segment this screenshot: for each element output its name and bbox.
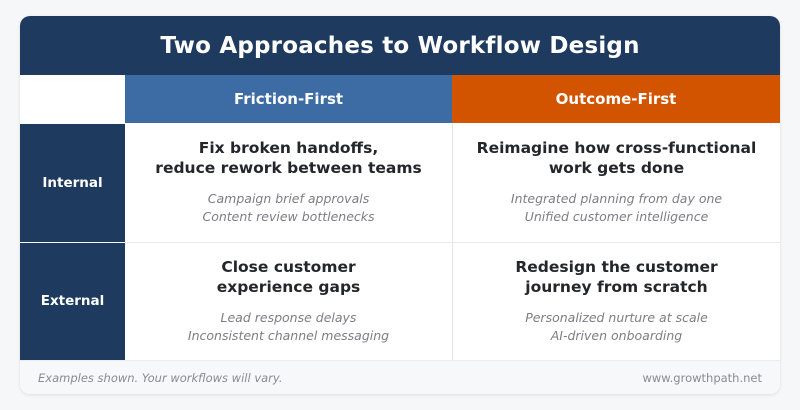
cell-headline-line-2: reduce rework between teams bbox=[155, 158, 421, 178]
cell-external-friction-first: Close customer experience gaps Lead resp… bbox=[125, 242, 452, 361]
cell-headline: Redesign the customer journey from scrat… bbox=[515, 257, 717, 297]
cell-examples: Integrated planning from day one Unified… bbox=[511, 190, 722, 227]
cell-examples: Lead response delays Inconsistent channe… bbox=[188, 309, 389, 346]
comparison-card: Two Approaches to Workflow Design Fricti… bbox=[20, 16, 780, 394]
card-footer: Examples shown. Your workflows will vary… bbox=[20, 360, 780, 394]
cell-internal-outcome-first: Reimagine how cross-functional work gets… bbox=[452, 123, 780, 242]
row-label-text: Internal bbox=[42, 175, 102, 191]
cell-example-1: Personalized nurture at scale bbox=[525, 309, 708, 328]
row-label-text: External bbox=[41, 293, 105, 309]
row-label-external: External bbox=[20, 242, 125, 361]
cell-headline-line-2: work gets done bbox=[477, 158, 757, 178]
cell-headline: Fix broken handoffs, reduce rework betwe… bbox=[155, 138, 421, 178]
cell-headline: Close customer experience gaps bbox=[217, 257, 361, 297]
cell-example-2: AI-driven onboarding bbox=[525, 327, 708, 346]
cell-example-1: Integrated planning from day one bbox=[511, 190, 722, 209]
comparison-table: Friction-First Outcome-First Internal Fi… bbox=[20, 75, 780, 360]
page-title: Two Approaches to Workflow Design bbox=[160, 33, 639, 59]
cell-external-outcome-first: Redesign the customer journey from scrat… bbox=[452, 242, 780, 361]
column-header-outcome-first: Outcome-First bbox=[452, 75, 780, 123]
cell-example-2: Unified customer intelligence bbox=[511, 208, 722, 227]
footer-site-url: www.growthpath.net bbox=[642, 371, 762, 385]
cell-headline: Reimagine how cross-functional work gets… bbox=[477, 138, 757, 178]
card-title-bar: Two Approaches to Workflow Design bbox=[20, 16, 780, 75]
cell-headline-line-1: Reimagine how cross-functional bbox=[477, 138, 757, 158]
table-corner-cell bbox=[20, 75, 125, 123]
cell-example-1: Lead response delays bbox=[188, 309, 389, 328]
cell-example-1: Campaign brief approvals bbox=[202, 190, 374, 209]
cell-headline-line-2: journey from scratch bbox=[515, 277, 717, 297]
column-header-label: Outcome-First bbox=[556, 90, 677, 108]
row-label-internal: Internal bbox=[20, 123, 125, 242]
cell-example-2: Content review bottlenecks bbox=[202, 208, 374, 227]
cell-headline-line-2: experience gaps bbox=[217, 277, 361, 297]
cell-internal-friction-first: Fix broken handoffs, reduce rework betwe… bbox=[125, 123, 452, 242]
cell-example-2: Inconsistent channel messaging bbox=[188, 327, 389, 346]
cell-examples: Personalized nurture at scale AI-driven … bbox=[525, 309, 708, 346]
cell-headline-line-1: Redesign the customer bbox=[515, 257, 717, 277]
column-header-friction-first: Friction-First bbox=[125, 75, 452, 123]
cell-examples: Campaign brief approvals Content review … bbox=[202, 190, 374, 227]
cell-headline-line-1: Fix broken handoffs, bbox=[155, 138, 421, 158]
footer-note: Examples shown. Your workflows will vary… bbox=[38, 371, 282, 385]
column-header-label: Friction-First bbox=[234, 90, 343, 108]
cell-headline-line-1: Close customer bbox=[217, 257, 361, 277]
